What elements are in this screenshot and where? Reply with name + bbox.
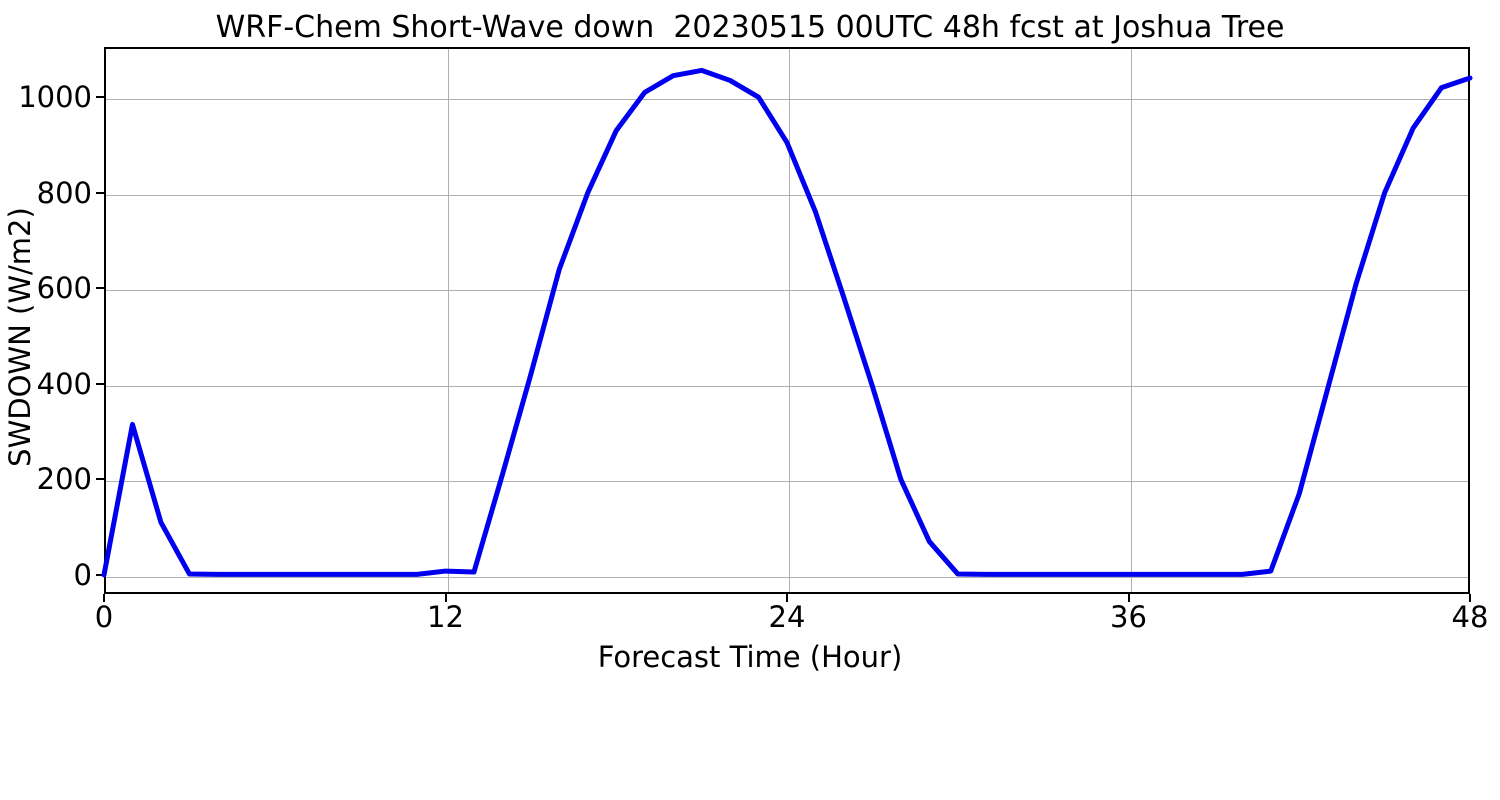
gridline-vertical bbox=[789, 49, 790, 592]
y-tick-label: 200 bbox=[6, 462, 92, 496]
y-tick-label: 800 bbox=[6, 176, 92, 210]
x-tick-label: 24 bbox=[769, 600, 806, 634]
y-tick-mark bbox=[96, 478, 104, 480]
x-tick-label: 0 bbox=[95, 600, 113, 634]
gridline-horizontal bbox=[106, 195, 1468, 196]
x-tick-mark bbox=[103, 594, 105, 602]
gridline-horizontal bbox=[106, 481, 1468, 482]
y-tick-mark bbox=[96, 96, 104, 98]
gridline-horizontal bbox=[106, 290, 1468, 291]
x-tick-label: 12 bbox=[427, 600, 464, 634]
chart-figure: WRF-Chem Short-Wave down 20230515 00UTC … bbox=[0, 0, 1500, 800]
gridline-vertical bbox=[448, 49, 449, 592]
y-tick-mark bbox=[96, 574, 104, 576]
gridline-vertical bbox=[1131, 49, 1132, 592]
x-tick-mark bbox=[1469, 594, 1471, 602]
x-tick-mark bbox=[445, 594, 447, 602]
x-tick-mark bbox=[1128, 594, 1130, 602]
x-tick-mark bbox=[786, 594, 788, 602]
y-tick-label: 400 bbox=[6, 367, 92, 401]
y-tick-mark bbox=[96, 192, 104, 194]
gridline-horizontal bbox=[106, 577, 1468, 578]
x-tick-label: 36 bbox=[1110, 600, 1147, 634]
gridline-horizontal bbox=[106, 386, 1468, 387]
y-axis-title: SWDOWN (W/m2) bbox=[3, 167, 37, 507]
y-tick-label: 600 bbox=[6, 271, 92, 305]
y-tick-label: 0 bbox=[6, 558, 92, 592]
gridline-horizontal bbox=[106, 99, 1468, 100]
x-axis-title: Forecast Time (Hour) bbox=[0, 640, 1500, 674]
y-tick-mark bbox=[96, 383, 104, 385]
plot-area bbox=[104, 47, 1470, 594]
y-tick-label: 1000 bbox=[6, 80, 92, 114]
y-tick-mark bbox=[96, 287, 104, 289]
chart-title: WRF-Chem Short-Wave down 20230515 00UTC … bbox=[0, 10, 1500, 45]
x-tick-label: 48 bbox=[1452, 600, 1489, 634]
